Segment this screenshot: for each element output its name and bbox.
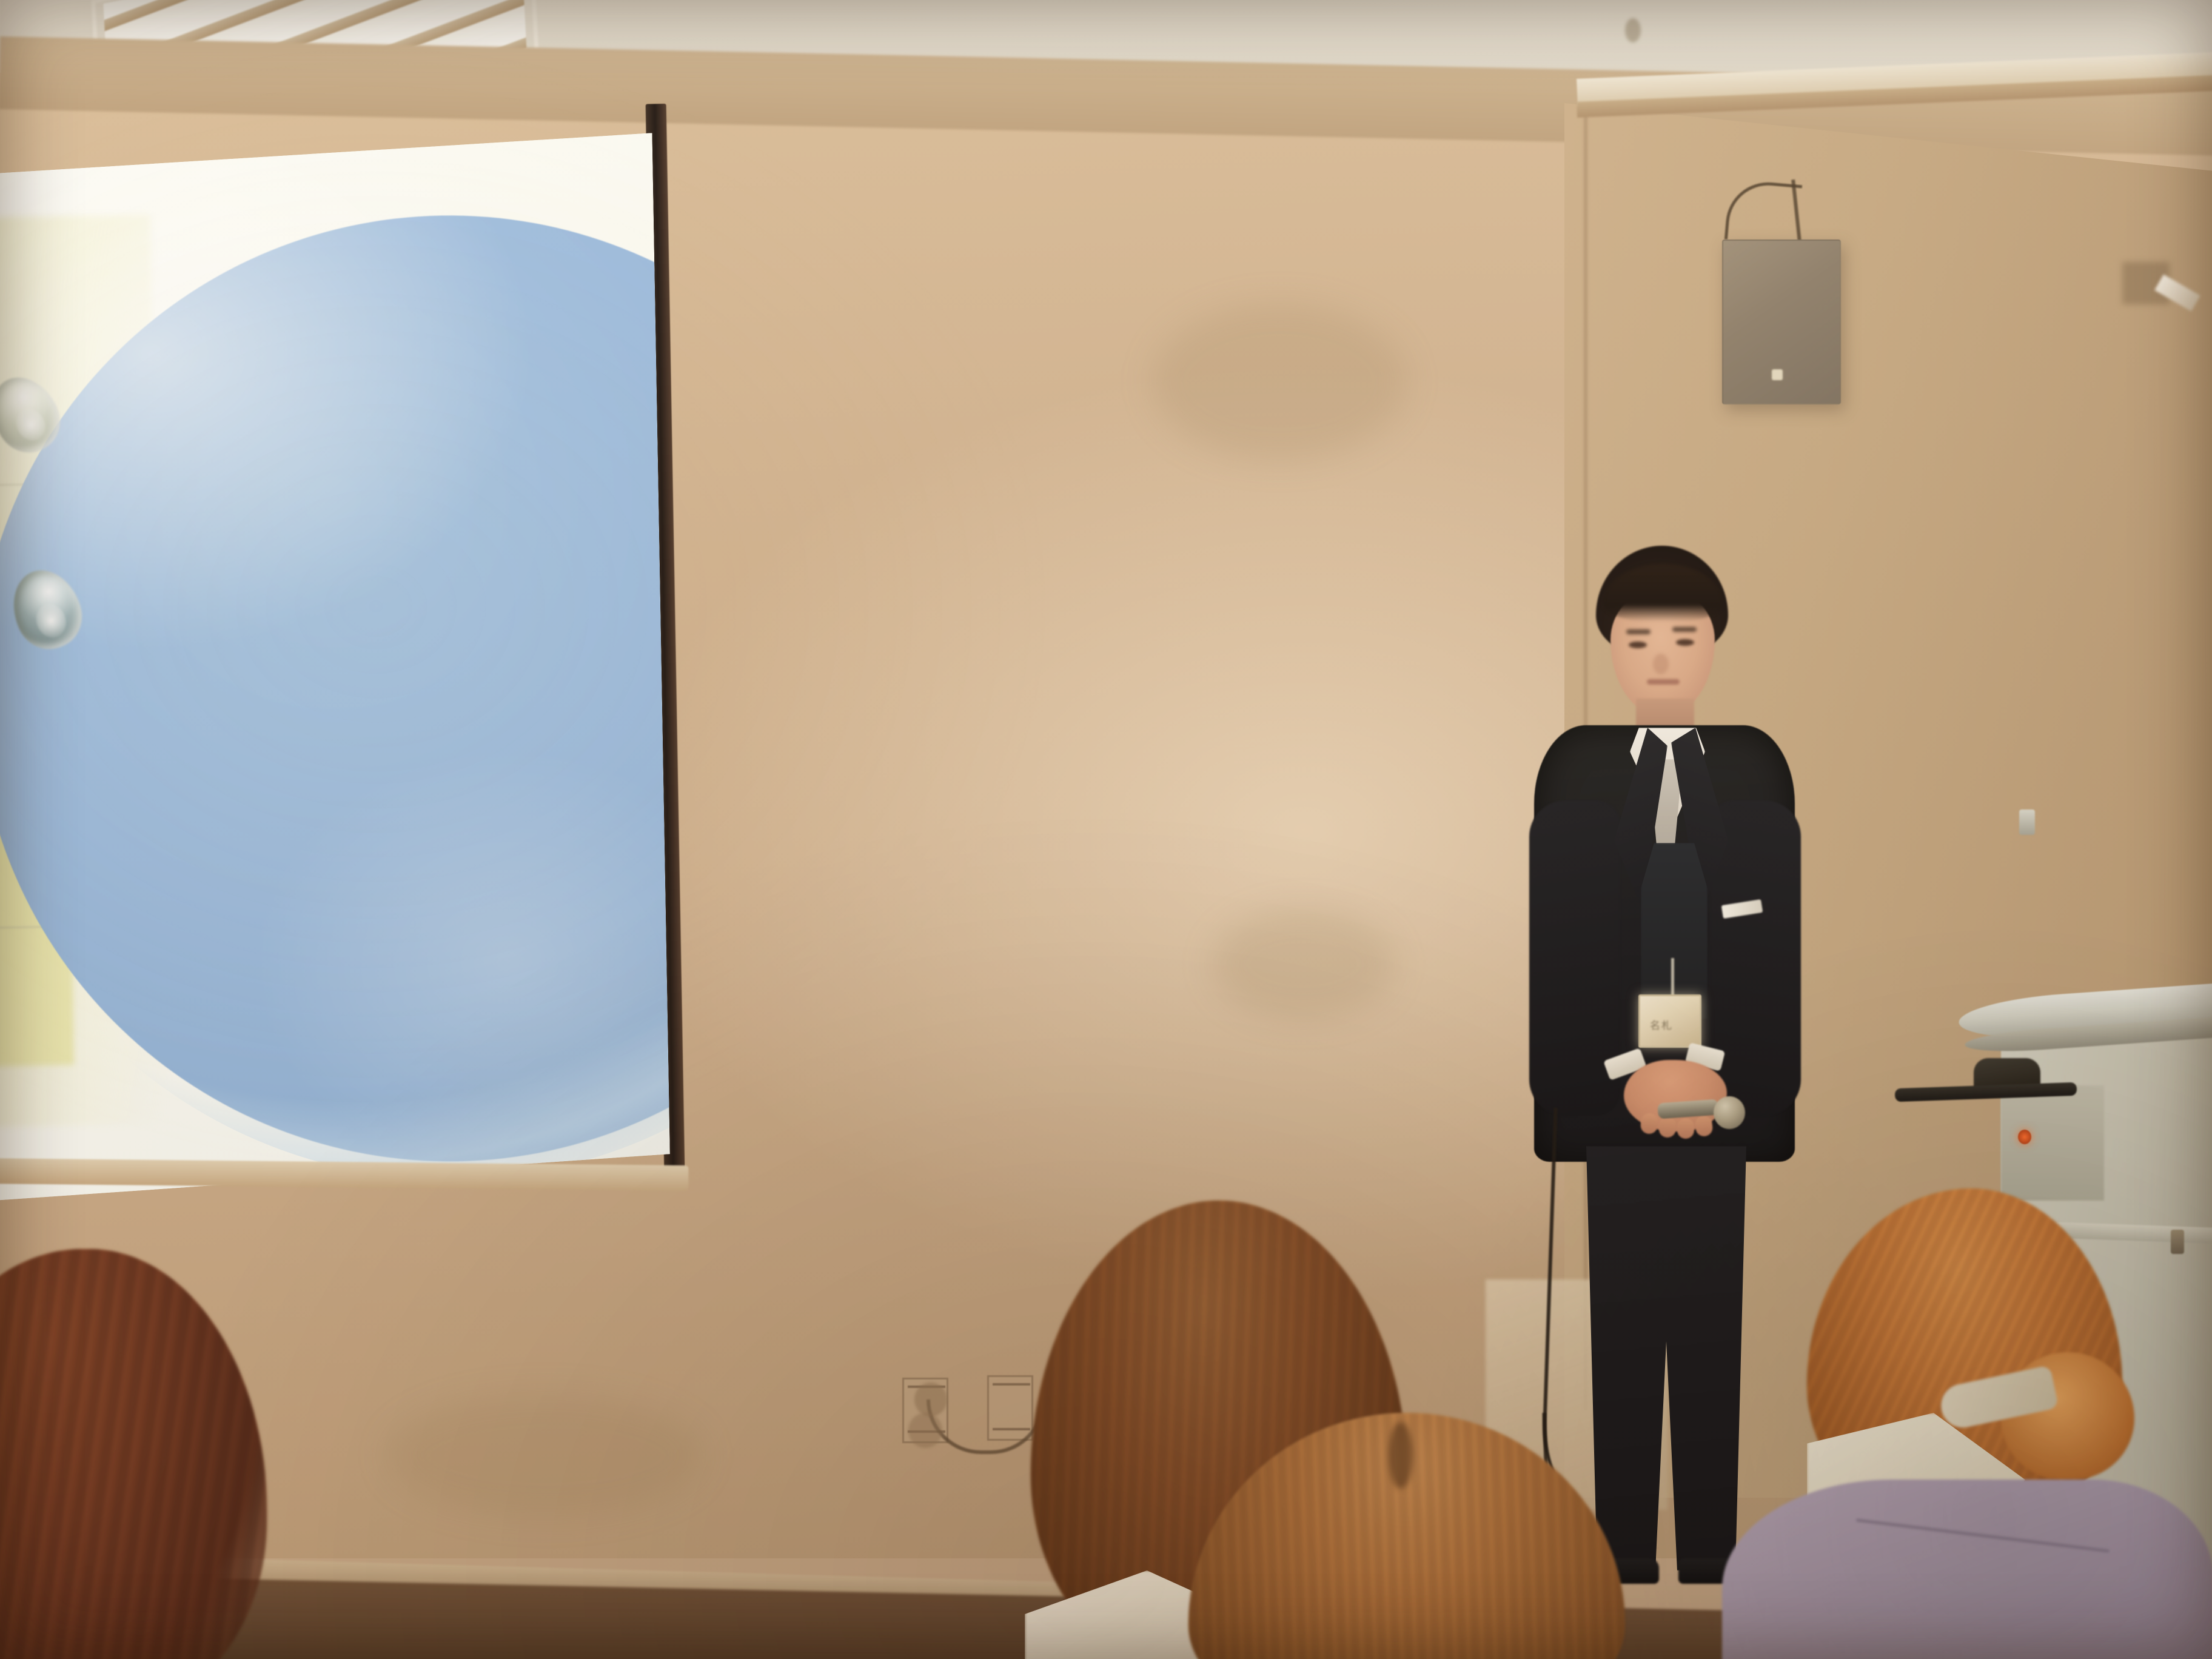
- wall-speaker-icon: [1722, 240, 1841, 404]
- audience-member-shoulders: [1722, 1480, 2212, 1659]
- presenter-mouth: [1647, 679, 1680, 685]
- hair-part: [1389, 1422, 1413, 1489]
- eye: [1676, 639, 1694, 646]
- eyebrow: [1626, 629, 1651, 634]
- name-badge-text: 名札: [1650, 1017, 1673, 1032]
- outlet-slot: [993, 1383, 1030, 1386]
- waistcoat: [1641, 843, 1708, 1019]
- eye: [1629, 642, 1647, 648]
- outlet-plug: [914, 1382, 947, 1416]
- badge-lanyard: [1671, 958, 1674, 997]
- ceiling-fixture-dot: [1625, 18, 1641, 42]
- finger: [1677, 1118, 1694, 1139]
- wall-smudge: [1152, 303, 1407, 461]
- outlet-plug: [908, 1413, 942, 1448]
- lecture-room-photo: 名札: [0, 0, 2212, 1659]
- wall-smudge: [388, 1395, 703, 1516]
- projection-screen: [0, 30, 750, 1250]
- presenter-nose: [1653, 654, 1669, 674]
- speaker-led-icon: [1772, 369, 1783, 380]
- microphone-icon: [1714, 1096, 1745, 1129]
- lectern-panel: [2001, 1085, 2104, 1201]
- lectern-post: [2019, 809, 2035, 835]
- eyebrow: [1672, 627, 1697, 632]
- screen-surface: [0, 133, 671, 1204]
- name-badge: 名札: [1638, 994, 1701, 1048]
- wall-smudge: [1213, 910, 1395, 1019]
- wall-rail-cap: [2171, 1230, 2184, 1254]
- lectern-power-led-icon: [2018, 1130, 2031, 1144]
